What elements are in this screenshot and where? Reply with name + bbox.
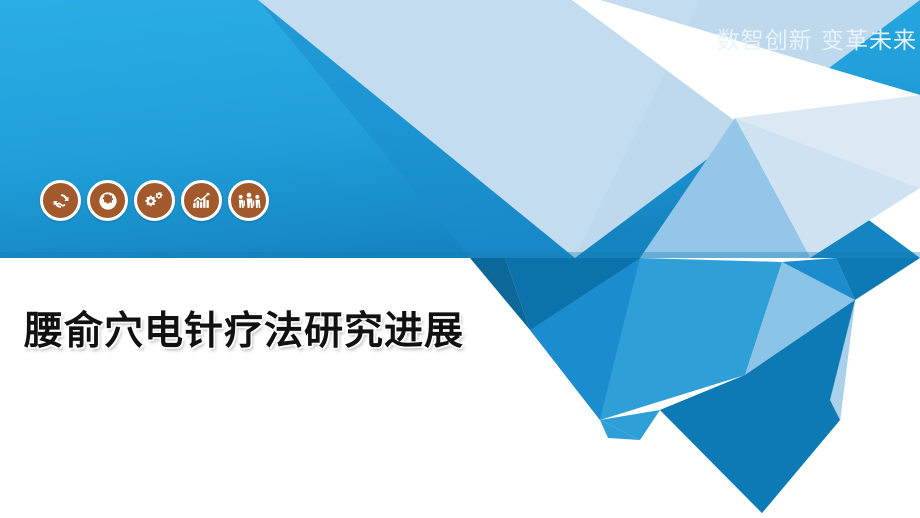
bar-chart-icon[interactable]	[181, 180, 222, 221]
gears-icon[interactable]	[134, 180, 175, 221]
refresh-cycle-icon[interactable]	[40, 180, 81, 221]
presentation-slide: 数智创新 变革未来	[0, 0, 920, 518]
icon-row	[40, 180, 269, 221]
slide-tagline: 数智创新 变革未来	[697, 28, 917, 56]
decorative-background	[0, 0, 920, 518]
page-title: 腰俞穴电针疗法研究进展	[24, 300, 464, 356]
globe-icon[interactable]	[87, 180, 128, 221]
people-team-icon[interactable]	[228, 180, 269, 221]
